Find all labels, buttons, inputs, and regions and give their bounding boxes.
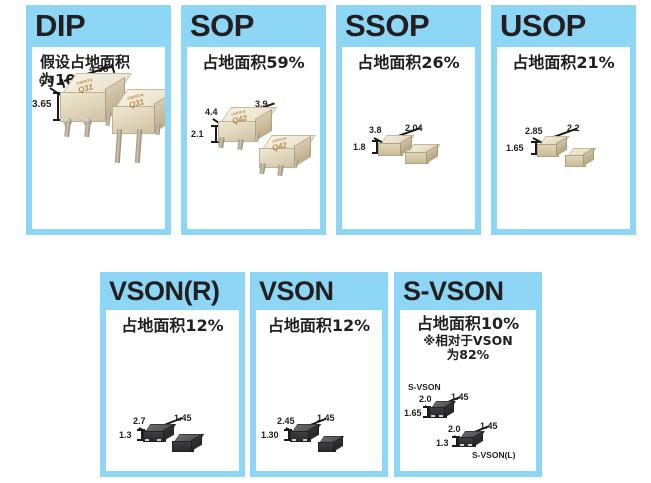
card-vson[interactable]: VSON 占地面积12% 1.45 2.45 1.30 <box>250 272 388 477</box>
card-title-s-vson: S-VSON <box>403 278 504 305</box>
dim-label-dip-365: 3.65 <box>32 99 51 110</box>
package-art-vson: 1.45 2.45 1.30 <box>256 310 382 471</box>
card-vson-r[interactable]: VSON(R) 占地面积12% 1.45 2.7 1.3 <box>100 272 245 477</box>
package-size-comparison-board: DIP 假设占地面积 为100% 4.58 6.4 3.65 <box>0 0 651 483</box>
dim-label-vsonr-13: 1.3 <box>119 430 132 440</box>
card-sop[interactable]: SOP 占地面积59% 3.9 4.4 2.1 OMRON Q42 <box>181 5 326 235</box>
card-dip[interactable]: DIP 假设占地面积 为100% 4.58 6.4 3.65 <box>26 5 171 235</box>
dim-label-svson-20-b: 2.0 <box>448 424 461 434</box>
package-art-dip: 4.58 6.4 3.65 OMRON Q31 <box>32 47 165 229</box>
dim-label-ssop-18: 1.8 <box>353 142 366 152</box>
dim-label-vson-130: 1.30 <box>261 430 279 440</box>
card-title-ssop: SSOP <box>345 10 429 41</box>
dim-arrow-sop-21 <box>215 125 217 142</box>
package-art-ssop: 2.04 3.8 1.8 <box>342 47 475 229</box>
dim-label-svson-13: 1.3 <box>436 438 449 448</box>
card-title-vson: VSON <box>259 278 334 305</box>
card-body-s-vson: 占地面积10% ※相对于VSON 为82% S-VSON 1.45 2.0 1.… <box>400 310 536 471</box>
package-art-usop: 2.2 2.85 1.65 <box>497 47 630 229</box>
card-body-sop: 占地面积59% 3.9 4.4 2.1 OMRON Q42 <box>187 47 320 229</box>
dim-label-svson-20-a: 2.0 <box>419 394 432 404</box>
dim-tick-usop-165-a <box>531 141 539 143</box>
dim-label-svson-165: 1.65 <box>404 408 422 418</box>
dim-label-sop-44: 4.4 <box>205 107 218 117</box>
dim-arrow-dip-365 <box>57 92 59 120</box>
dim-label-usop-165: 1.65 <box>506 143 524 153</box>
card-body-ssop: 占地面积26% 2.04 3.8 1.8 <box>342 47 475 229</box>
dim-label-dip-64: 6.4 <box>39 76 53 87</box>
dim-tick-ssop-18-a <box>372 140 380 142</box>
dim-label-usop-285: 2.85 <box>525 126 543 136</box>
package-art-vson-r: 1.45 2.7 1.3 <box>106 310 239 471</box>
dim-label-ssop-38: 3.8 <box>369 125 382 135</box>
package-label-s-vson-l: S-VSON(L) <box>472 450 515 460</box>
dim-label-sop-21: 2.1 <box>191 129 204 139</box>
card-s-vson[interactable]: S-VSON 占地面积10% ※相对于VSON 为82% S-VSON 1.45… <box>394 272 542 477</box>
card-body-vson: 占地面积12% 1.45 2.45 1.30 <box>256 310 382 471</box>
card-usop[interactable]: USOP 占地面积21% 2.2 2.85 1.65 <box>491 5 636 235</box>
dim-tick-dip-458-b <box>111 64 116 73</box>
package-label-s-vson: S-VSON <box>408 382 441 392</box>
card-ssop[interactable]: SSOP 占地面积26% 2.04 3.8 1.8 <box>336 5 481 235</box>
card-body-dip: 假设占地面积 为100% 4.58 6.4 3.65 <box>32 47 165 229</box>
card-title-usop: USOP <box>500 10 586 41</box>
dim-label-vson-245: 2.45 <box>277 416 295 426</box>
card-body-vson-r: 占地面积12% 1.45 2.7 1.3 <box>106 310 239 471</box>
package-art-sop: 3.9 4.4 2.1 OMRON Q42 <box>187 47 320 229</box>
card-body-usop: 占地面积21% 2.2 2.85 1.65 <box>497 47 630 229</box>
package-art-s-vson: S-VSON 1.45 2.0 1.65 1.45 <box>400 310 536 471</box>
card-title-dip: DIP <box>35 10 85 41</box>
dim-label-vsonr-27: 2.7 <box>133 416 146 426</box>
card-title-sop: SOP <box>190 10 254 41</box>
card-title-vson-r: VSON(R) <box>109 278 220 305</box>
